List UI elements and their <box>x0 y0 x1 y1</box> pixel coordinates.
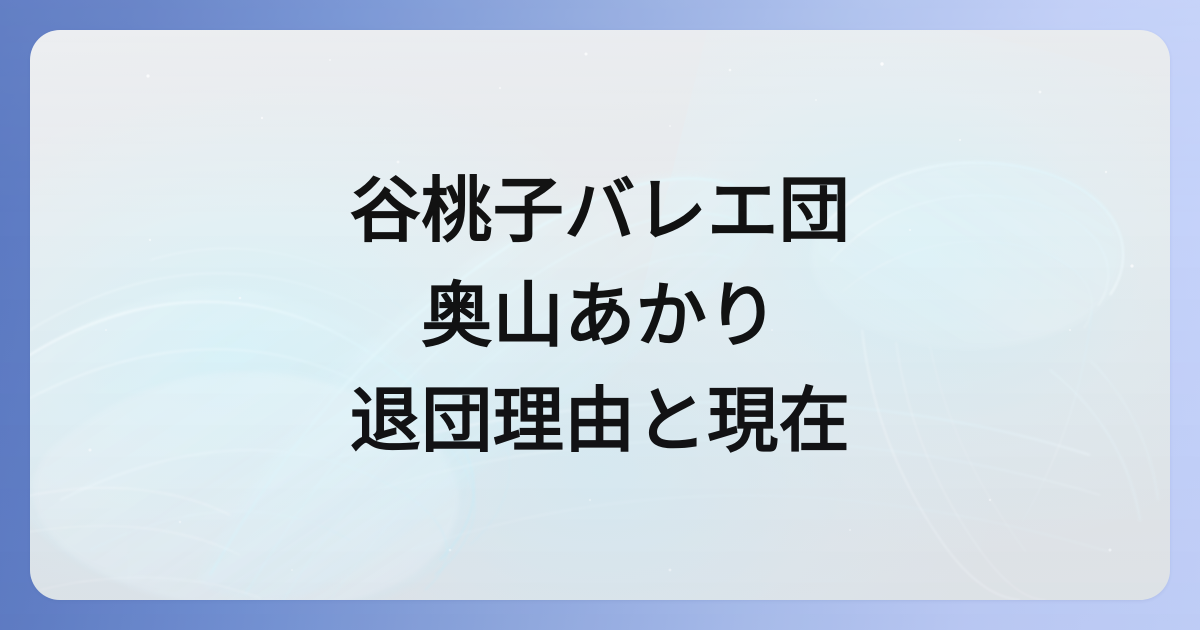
thumbnail-canvas: 谷桃子バレエ団 奥山あかり 退団理由と現在 <box>0 0 1200 630</box>
headline-block: 谷桃子バレエ団 奥山あかり 退団理由と現在 <box>30 30 1170 600</box>
headline-line-3: 退団理由と現在 <box>350 368 851 473</box>
headline-line-1: 谷桃子バレエ団 <box>350 158 851 263</box>
headline-line-2: 奥山あかり <box>421 263 779 368</box>
content-card: 谷桃子バレエ団 奥山あかり 退団理由と現在 <box>30 30 1170 600</box>
